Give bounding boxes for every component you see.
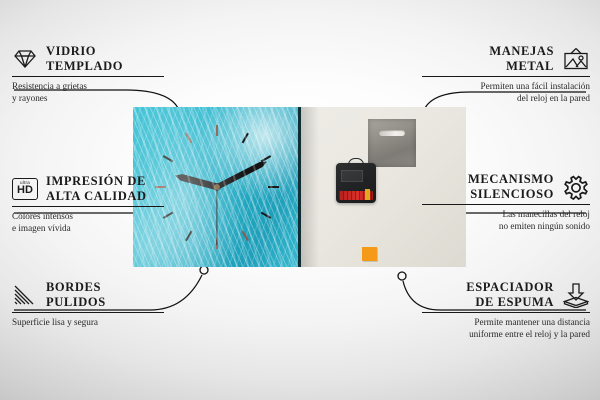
feature-foam-spacer: ESPACIADOR DE ESPUMA Permite mantener un…	[422, 280, 590, 341]
clock-center-cap	[214, 184, 220, 190]
feature-divider	[12, 312, 164, 313]
feature-description: Colores intensos e imagen vívida	[12, 210, 164, 235]
feature-divider	[12, 76, 164, 77]
feature-high-quality-print: ultra HD IMPRESIÓN DE ALTA CALIDAD Color…	[12, 174, 164, 235]
arrow-down-onto-surface-icon	[562, 282, 590, 308]
feature-title: ESPACIADOR DE ESPUMA	[466, 280, 554, 309]
polished-edges-icon	[12, 284, 38, 306]
feature-polished-edges: BORDES PULIDOS Superficie lisa y segura	[12, 280, 164, 328]
mechanism-recess	[341, 170, 363, 182]
feature-title: IMPRESIÓN DE ALTA CALIDAD	[46, 174, 147, 203]
metal-hanger-plate	[368, 119, 416, 167]
feature-description: Permiten una fácil instalación del reloj…	[422, 80, 590, 105]
feature-description: Permite mantener una distancia uniforme …	[422, 316, 590, 341]
badge-hd-label: HD	[17, 185, 33, 196]
feature-description: Resistencia a grietas y rayones	[12, 80, 164, 105]
feature-divider	[12, 206, 164, 207]
hanger-slot	[379, 130, 405, 136]
feature-title: MECANISMO SILENCIOSO	[468, 172, 554, 201]
gear-icon	[562, 174, 590, 200]
feature-divider	[422, 204, 590, 205]
clock-mechanism-box	[336, 163, 376, 203]
clock-second-hand	[216, 187, 217, 245]
clock-minute-hand	[216, 159, 269, 190]
feature-title: BORDES PULIDOS	[46, 280, 106, 309]
feature-divider	[422, 76, 590, 77]
ultra-hd-badge-icon: ultra HD	[12, 178, 38, 200]
diamond-icon	[12, 48, 38, 70]
feature-description: Las manecillas del reloj no emiten ningú…	[422, 208, 590, 233]
clock-hour-hand	[174, 172, 218, 190]
feature-title: VIDRIO TEMPLADO	[46, 44, 123, 73]
battery-label-stripes	[339, 191, 373, 200]
wire-endpoint-spacer	[398, 272, 406, 280]
mechanism-hook	[348, 158, 364, 166]
battery	[339, 191, 373, 200]
infographic-canvas: VIDRIO TEMPLADO Resistencia a grietas y …	[0, 0, 600, 400]
feature-tempered-glass: VIDRIO TEMPLADO Resistencia a grietas y …	[12, 44, 164, 105]
feature-title: MANEJAS METAL	[489, 44, 554, 73]
feature-metal-hooks: MANEJAS METAL Permiten una fácil instala…	[422, 44, 590, 105]
foam-spacer	[362, 247, 377, 261]
feature-description: Superficie lisa y segura	[12, 316, 164, 328]
product-image	[133, 107, 466, 267]
hanging-frame-icon	[562, 47, 590, 71]
feature-silent-mechanism: MECANISMO SILENCIOSO Las manecillas del …	[422, 172, 590, 233]
wire-endpoint-edges	[200, 266, 208, 274]
feature-divider	[422, 312, 590, 313]
